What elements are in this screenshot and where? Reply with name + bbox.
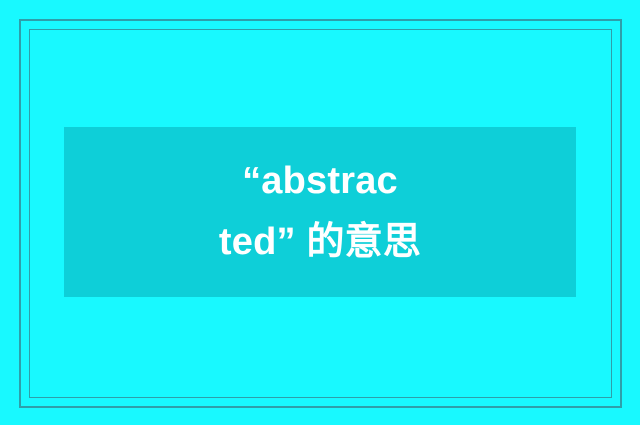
headline-text: “abstrac ted” 的意思 xyxy=(64,151,576,273)
image-canvas: “abstrac ted” 的意思 xyxy=(0,0,640,425)
headline-card: “abstrac ted” 的意思 xyxy=(64,127,576,297)
